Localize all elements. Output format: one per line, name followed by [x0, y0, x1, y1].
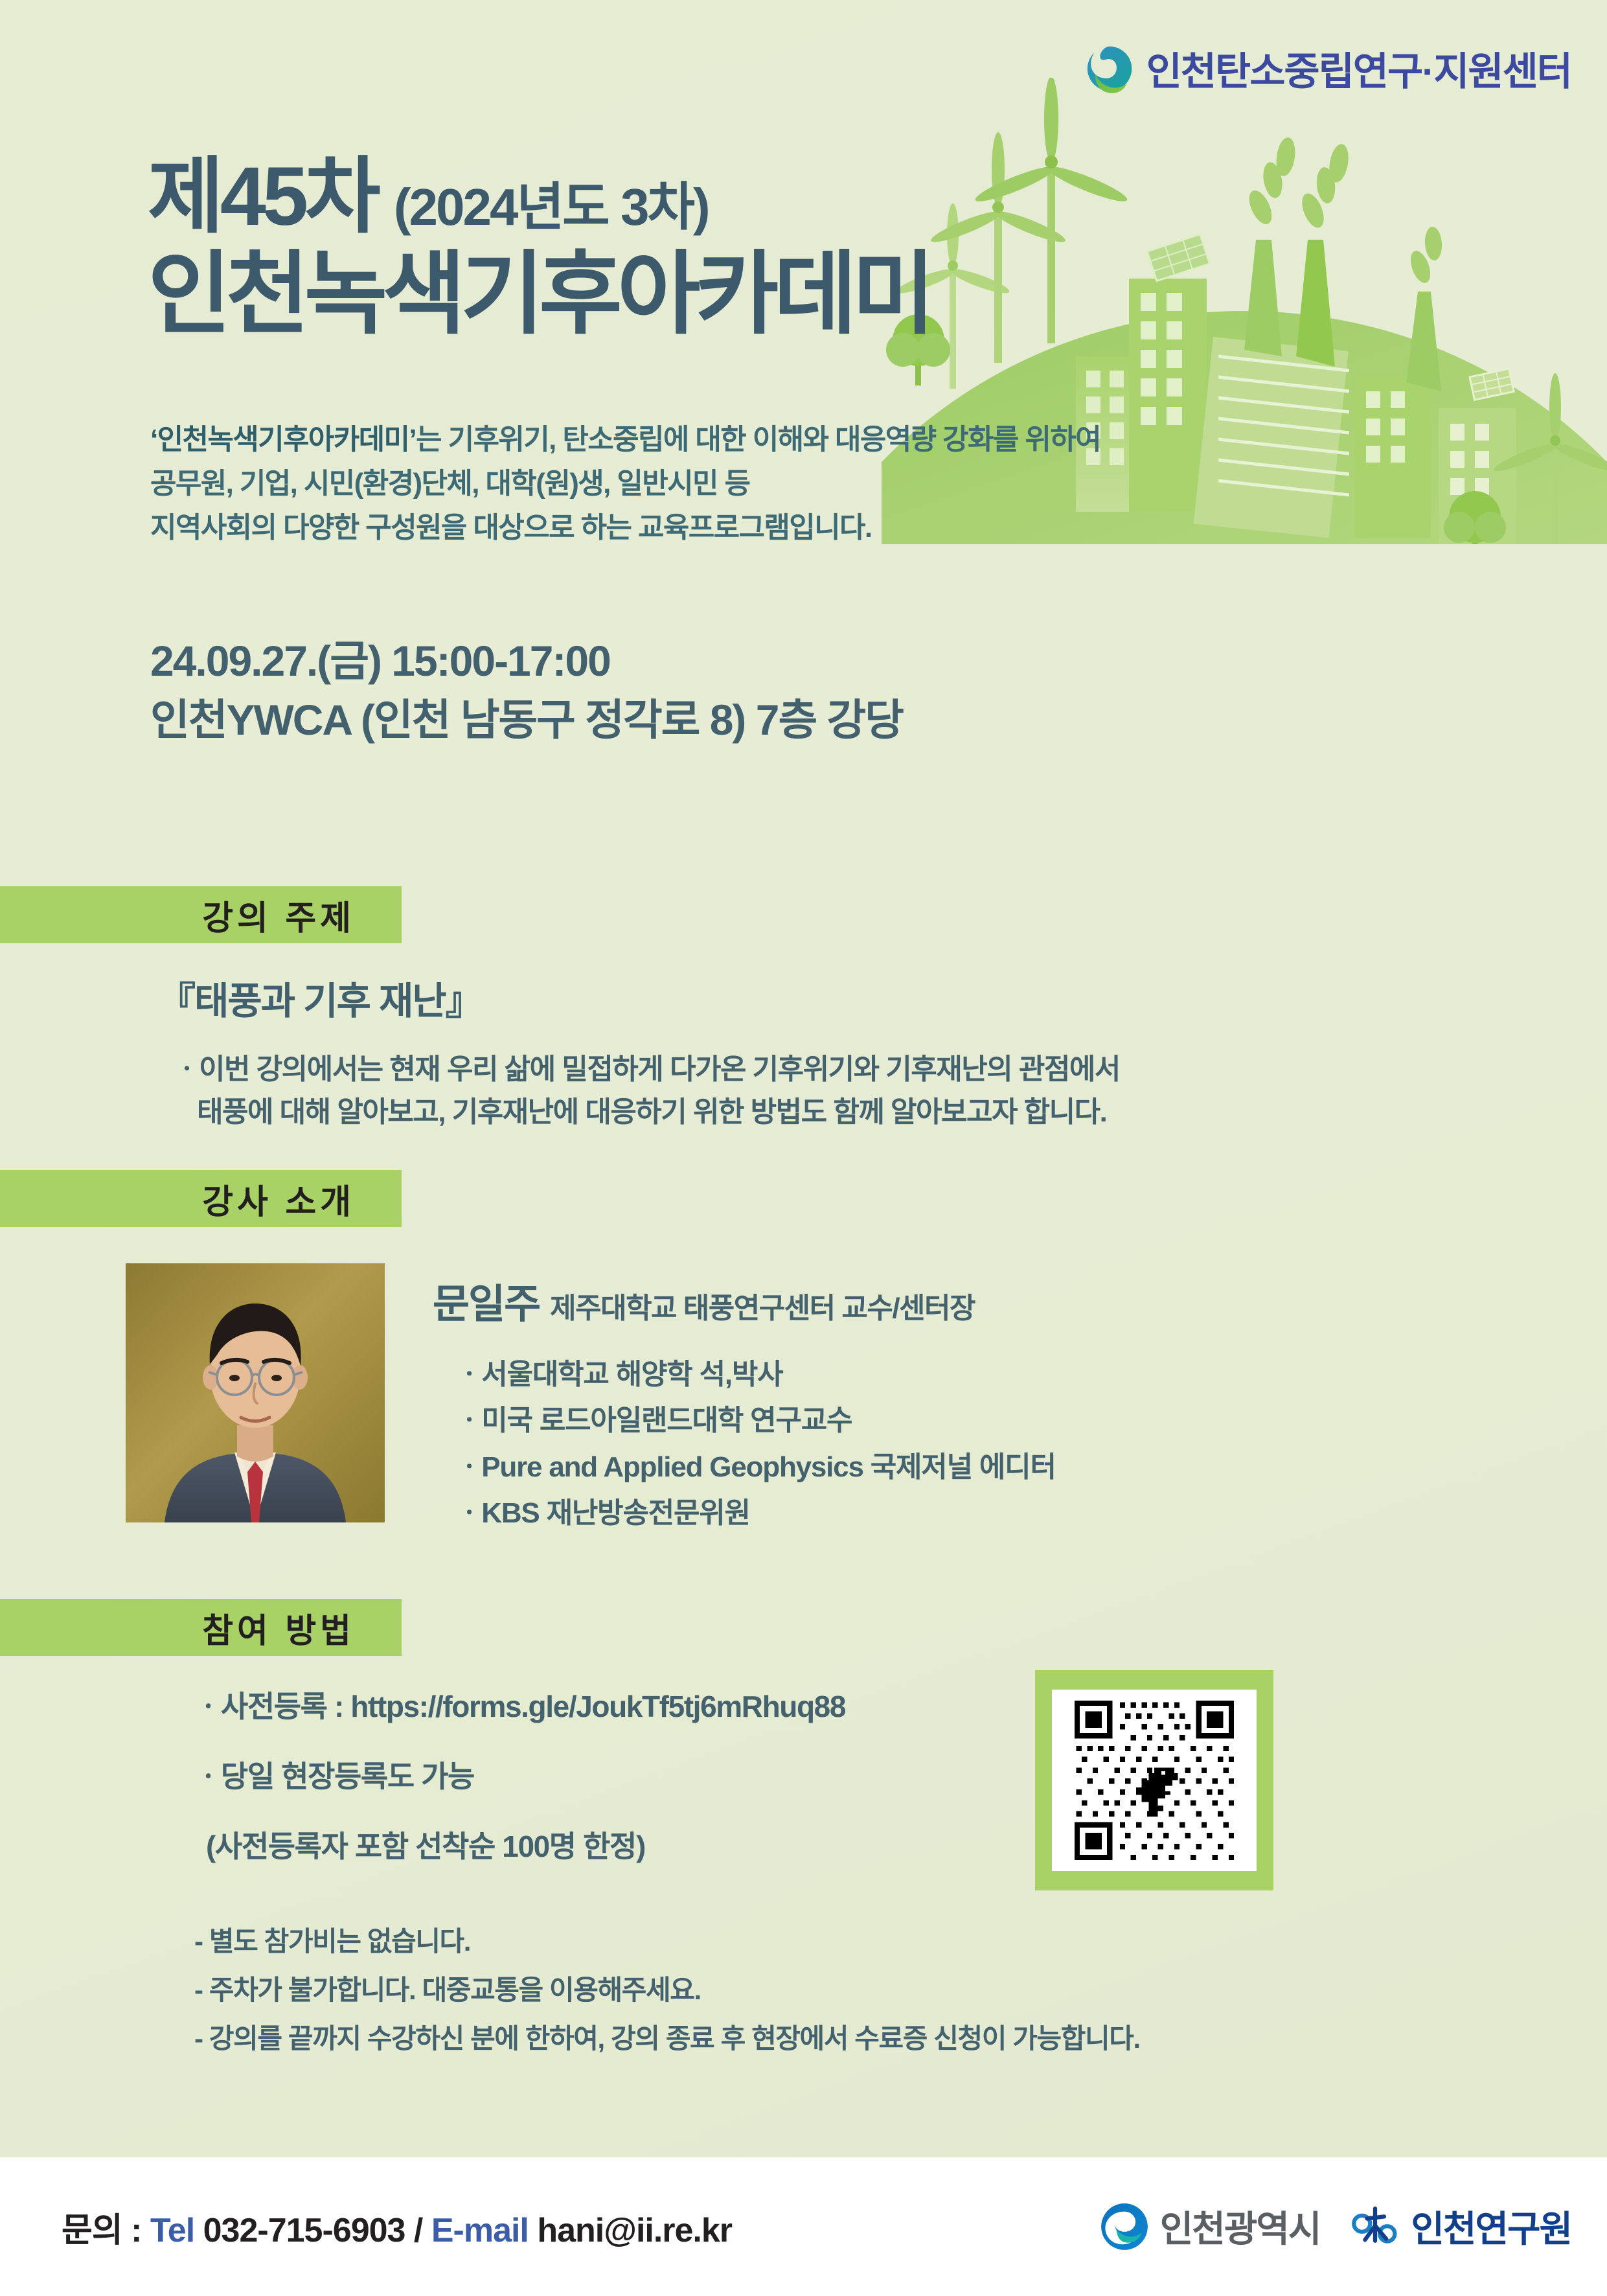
list-item: - 주차가 불가합니다. 대중교통을 이용해주세요.: [194, 1966, 1140, 2015]
incheon-institute-logo-text: 인천연구원: [1411, 2200, 1571, 2253]
intro-line-1-rest: 는 기후위기, 탄소중립에 대한 이해와 대응역량 강화를 위하여: [416, 424, 1100, 455]
speaker-name-row: 문일주 제주대학교 태풍연구센터 교수/센터장: [433, 1271, 1056, 1329]
title-program-name: 인천녹색기후아카데미: [148, 246, 930, 341]
speaker-info: 문일주 제주대학교 태풍연구센터 교수/센터장 ㆍ서울대학교 해양학 석,박사 …: [433, 1271, 1056, 1536]
tel-label: Tel: [150, 2212, 194, 2249]
contact-separator: /: [414, 2212, 431, 2249]
lecture-topic-description: ㆍ이번 강의에서는 현재 우리 삶에 밀접하게 다가온 기후위기와 기후재난의 …: [174, 1048, 1488, 1134]
header-org-logo: 인천탄소중립연구·지원센터: [1084, 40, 1571, 97]
section-band-speaker-label: 강사 소개: [202, 1175, 355, 1223]
carbon-neutral-circle-logo-icon: [1084, 43, 1135, 94]
speaker-name: 문일주: [433, 1271, 540, 1329]
speaker-portrait-photo: [126, 1263, 385, 1522]
list-item: ㆍPure and Applied Geophysics 국제저널 에디터: [456, 1444, 1056, 1490]
section-band-howto: 참여 방법: [0, 1599, 402, 1656]
speaker-portrait-svg: [126, 1263, 385, 1522]
title-line-1: 제45차 (2024년도 3차): [148, 155, 930, 238]
section-band-topic: 강의 주제: [0, 886, 402, 943]
qr-inner: [1052, 1690, 1257, 1871]
registration-qr-code[interactable]: [1035, 1670, 1273, 1890]
incheon-city-logo-text: 인천광역시: [1160, 2200, 1321, 2253]
lecture-topic-title: 『태풍과 기후 재난』: [158, 970, 482, 1025]
event-venue: 인천YWCA (인천 남동구 정각로 8) 7층 강당: [150, 691, 903, 750]
email-value: hani@ii.re.kr: [529, 2212, 732, 2249]
list-item: - 별도 참가비는 없습니다.: [194, 1918, 1140, 1966]
list-item: ㆍKBS 재난방송전문위원: [456, 1490, 1056, 1536]
qr-code-icon: [1052, 1690, 1257, 1871]
participation-notes: - 별도 참가비는 없습니다. - 주차가 불가합니다. 대중교통을 이용해주세…: [194, 1918, 1140, 2063]
section-band-speaker: 강사 소개: [0, 1170, 402, 1227]
event-datetime: 24.09.27.(금) 15:00-17:00: [150, 632, 903, 691]
list-item: ㆍ서울대학교 해양학 석,박사: [456, 1351, 1056, 1397]
incheon-city-logo: 인천광역시: [1099, 2200, 1321, 2253]
intro-paragraph: ‘인천녹색기후아카데미’는 기후위기, 탄소중립에 대한 이해와 대응역량 강화…: [150, 418, 1100, 551]
list-item: ㆍ미국 로드아일랜드대학 연구교수: [456, 1397, 1056, 1443]
section-band-topic-label: 강의 주제: [202, 891, 355, 939]
intro-line-3: 지역사회의 다양한 구성원을 대상으로 하는 교육프로그램입니다.: [150, 506, 1100, 550]
incheon-institute-logo: 인천연구원: [1350, 2200, 1571, 2253]
topic-desc-line-1: ㆍ이번 강의에서는 현재 우리 삶에 밀접하게 다가온 기후위기와 기후재난의 …: [174, 1053, 1120, 1085]
intro-line-2: 공무원, 기업, 시민(환경)단체, 대학(원)생, 일반시민 등: [150, 462, 1100, 506]
schedule-block: 24.09.27.(금) 15:00-17:00 인천YWCA (인천 남동구 …: [150, 632, 903, 750]
title-subtitle: (2024년도 3차): [394, 181, 709, 238]
tel-value: 032-715-6903: [194, 2212, 414, 2249]
intro-program-name: ‘인천녹색기후아카데미’: [150, 424, 416, 455]
intro-line-1: ‘인천녹색기후아카데미’는 기후위기, 탄소중립에 대한 이해와 대응역량 강화…: [150, 418, 1100, 462]
header-org-logo-text: 인천탄소중립연구·지원센터: [1146, 40, 1571, 97]
capacity-limit-row: (사전등록자 포함 선착순 100명 한정): [206, 1823, 845, 1866]
poster-title: 제45차 (2024년도 3차) 인천녹색기후아카데미: [148, 155, 930, 341]
inquiry-label: 문의 :: [62, 2212, 150, 2249]
list-item: - 강의를 끝까지 수강하신 분에 한하여, 강의 종료 후 현장에서 수료증 …: [194, 2015, 1140, 2063]
footer-logos: 인천광역시 인천연구원: [1099, 2200, 1571, 2253]
onsite-registration-row: ㆍ당일 현장등록도 가능: [194, 1753, 845, 1796]
footer-contact: 문의 : Tel 032-715-6903 / E-mail hani@ii.r…: [62, 2203, 732, 2251]
title-main: 제45차: [148, 155, 377, 238]
speaker-affiliation: 제주대학교 태풍연구센터 교수/센터장: [550, 1285, 975, 1326]
pre-registration-row: ㆍ사전등록 : https://forms.gle/JoukTf5tj6mRhu…: [194, 1683, 845, 1726]
topic-desc-line-2: 태풍에 대해 알아보고, 기후재난에 대응하기 위한 방법도 함께 알아보고자 …: [197, 1091, 1488, 1134]
speaker-credentials: ㆍ서울대학교 해양학 석,박사 ㆍ미국 로드아일랜드대학 연구교수 ㆍPure …: [456, 1351, 1056, 1536]
poster-root: 인천탄소중립연구·지원센터 제45차 (2024년도 3차) 인천녹색기후아카데…: [0, 0, 1607, 2296]
incheon-institute-logo-icon: [1350, 2201, 1400, 2252]
section-band-howto-label: 참여 방법: [202, 1603, 355, 1652]
pre-registration-label: ㆍ사전등록 :: [194, 1690, 350, 1723]
pre-registration-url[interactable]: https://forms.gle/JoukTf5tj6mRhuq88: [350, 1690, 845, 1723]
email-label: E-mail: [431, 2212, 529, 2249]
participation-details: ㆍ사전등록 : https://forms.gle/JoukTf5tj6mRhu…: [194, 1683, 845, 1893]
incheon-city-logo-icon: [1099, 2201, 1150, 2252]
